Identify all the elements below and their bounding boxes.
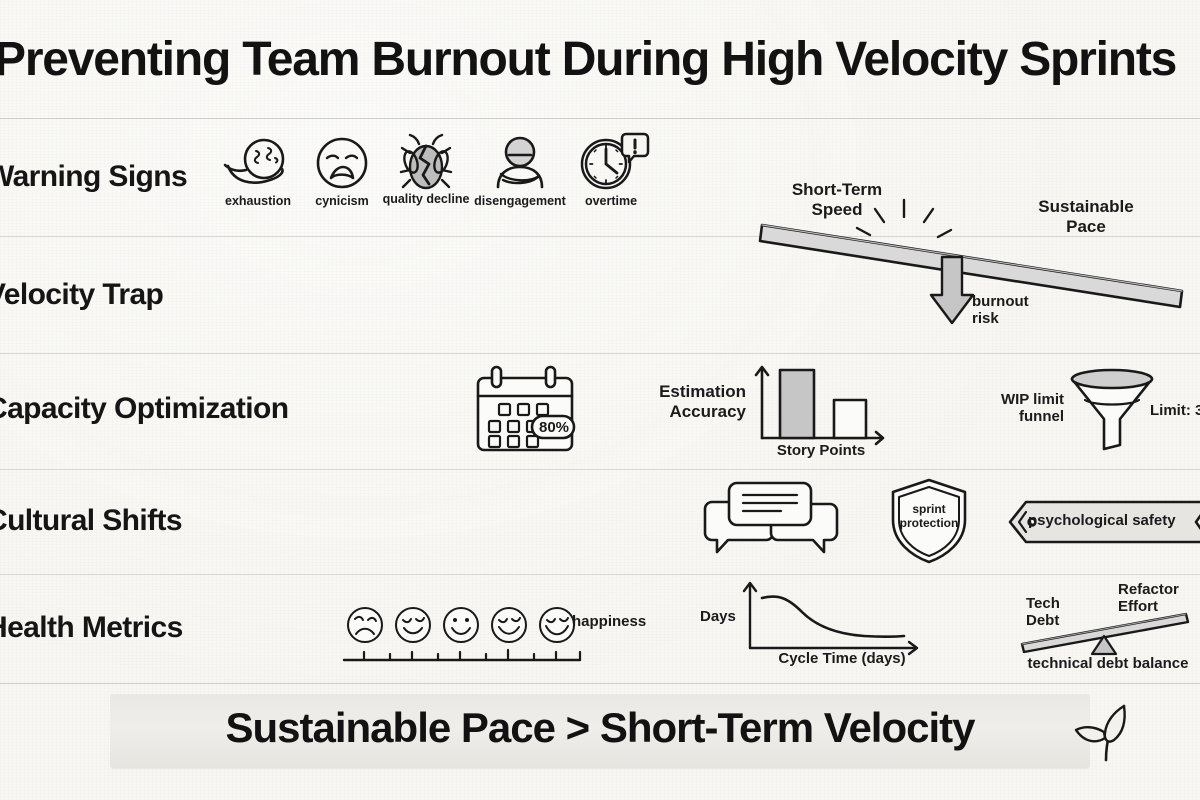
happiness-label: happiness (572, 613, 682, 630)
warning-icon-overtime: overtime (578, 132, 644, 212)
footer-text: Sustainable Pace > Short-Term Velocity (0, 704, 1200, 752)
row-label-warning-signs: Warning Signs (0, 160, 187, 194)
leaf-sprout-icon (1068, 698, 1140, 764)
calendar-capacity-badge: 80% (533, 419, 575, 436)
funnel-label: WIP limit funnel (980, 391, 1064, 426)
debt-balance-right-label: Refactor Effort (1118, 581, 1200, 616)
divider-3 (0, 469, 1200, 470)
debt-balance-caption: technical debt balance (1008, 655, 1200, 672)
cycle-chart-y-label: Days (700, 608, 750, 625)
divider-2 (0, 353, 1200, 354)
row-label-velocity-trap: Velocity Trap (0, 278, 163, 312)
row-label-health-metrics: Health Metrics (0, 611, 183, 645)
divider-top (0, 118, 1200, 119)
warning-label-exhaustion: exhaustion (225, 194, 291, 208)
warning-icon-disengagement: disengagement (485, 136, 555, 212)
warning-label-disengagement: disengagement (474, 194, 566, 208)
cycle-time-chart (744, 578, 924, 654)
shield-label: sprint protection (890, 503, 968, 531)
estimation-accuracy-bar-chart (750, 362, 890, 444)
seesaw-graphic (746, 195, 1196, 345)
seesaw-arrow-label: burnout risk (972, 293, 1056, 328)
row-label-capacity-optimization: Capacity Optimization (0, 392, 288, 426)
calendar-icon (470, 364, 580, 456)
row-label-cultural-shifts: Cultural Shifts (0, 504, 182, 538)
funnel-limit-label: Limit: 3 Ta (1150, 402, 1200, 419)
divider-4 (0, 574, 1200, 575)
psychological-safety-label: psychological safety (1028, 512, 1198, 529)
cycle-chart-x-label: Cycle Time (days) (752, 650, 932, 667)
debt-balance-graphic (1016, 612, 1196, 658)
speech-bubbles-icon (700, 479, 846, 561)
warning-label-overtime: overtime (585, 194, 637, 208)
bar-chart-x-label: Story Points (748, 442, 894, 459)
warning-label-cynicism: cynicism (315, 194, 369, 208)
page-title: Preventing Team Burnout During High Velo… (0, 36, 1200, 84)
warning-icon-quality-decline: quality decline (388, 134, 464, 212)
funnel-icon (1068, 367, 1156, 451)
warning-label-quality-decline: quality decline (383, 192, 470, 206)
divider-bottom (0, 683, 1200, 684)
bar-chart-y-label: Estimation Accuracy (650, 382, 746, 422)
warning-icon-exhaustion: exhaustion (222, 136, 294, 212)
warning-icon-cynicism: cynicism (311, 136, 373, 212)
happiness-scale (342, 604, 582, 670)
infographic-canvas: Preventing Team Burnout During High Velo… (0, 0, 1200, 800)
